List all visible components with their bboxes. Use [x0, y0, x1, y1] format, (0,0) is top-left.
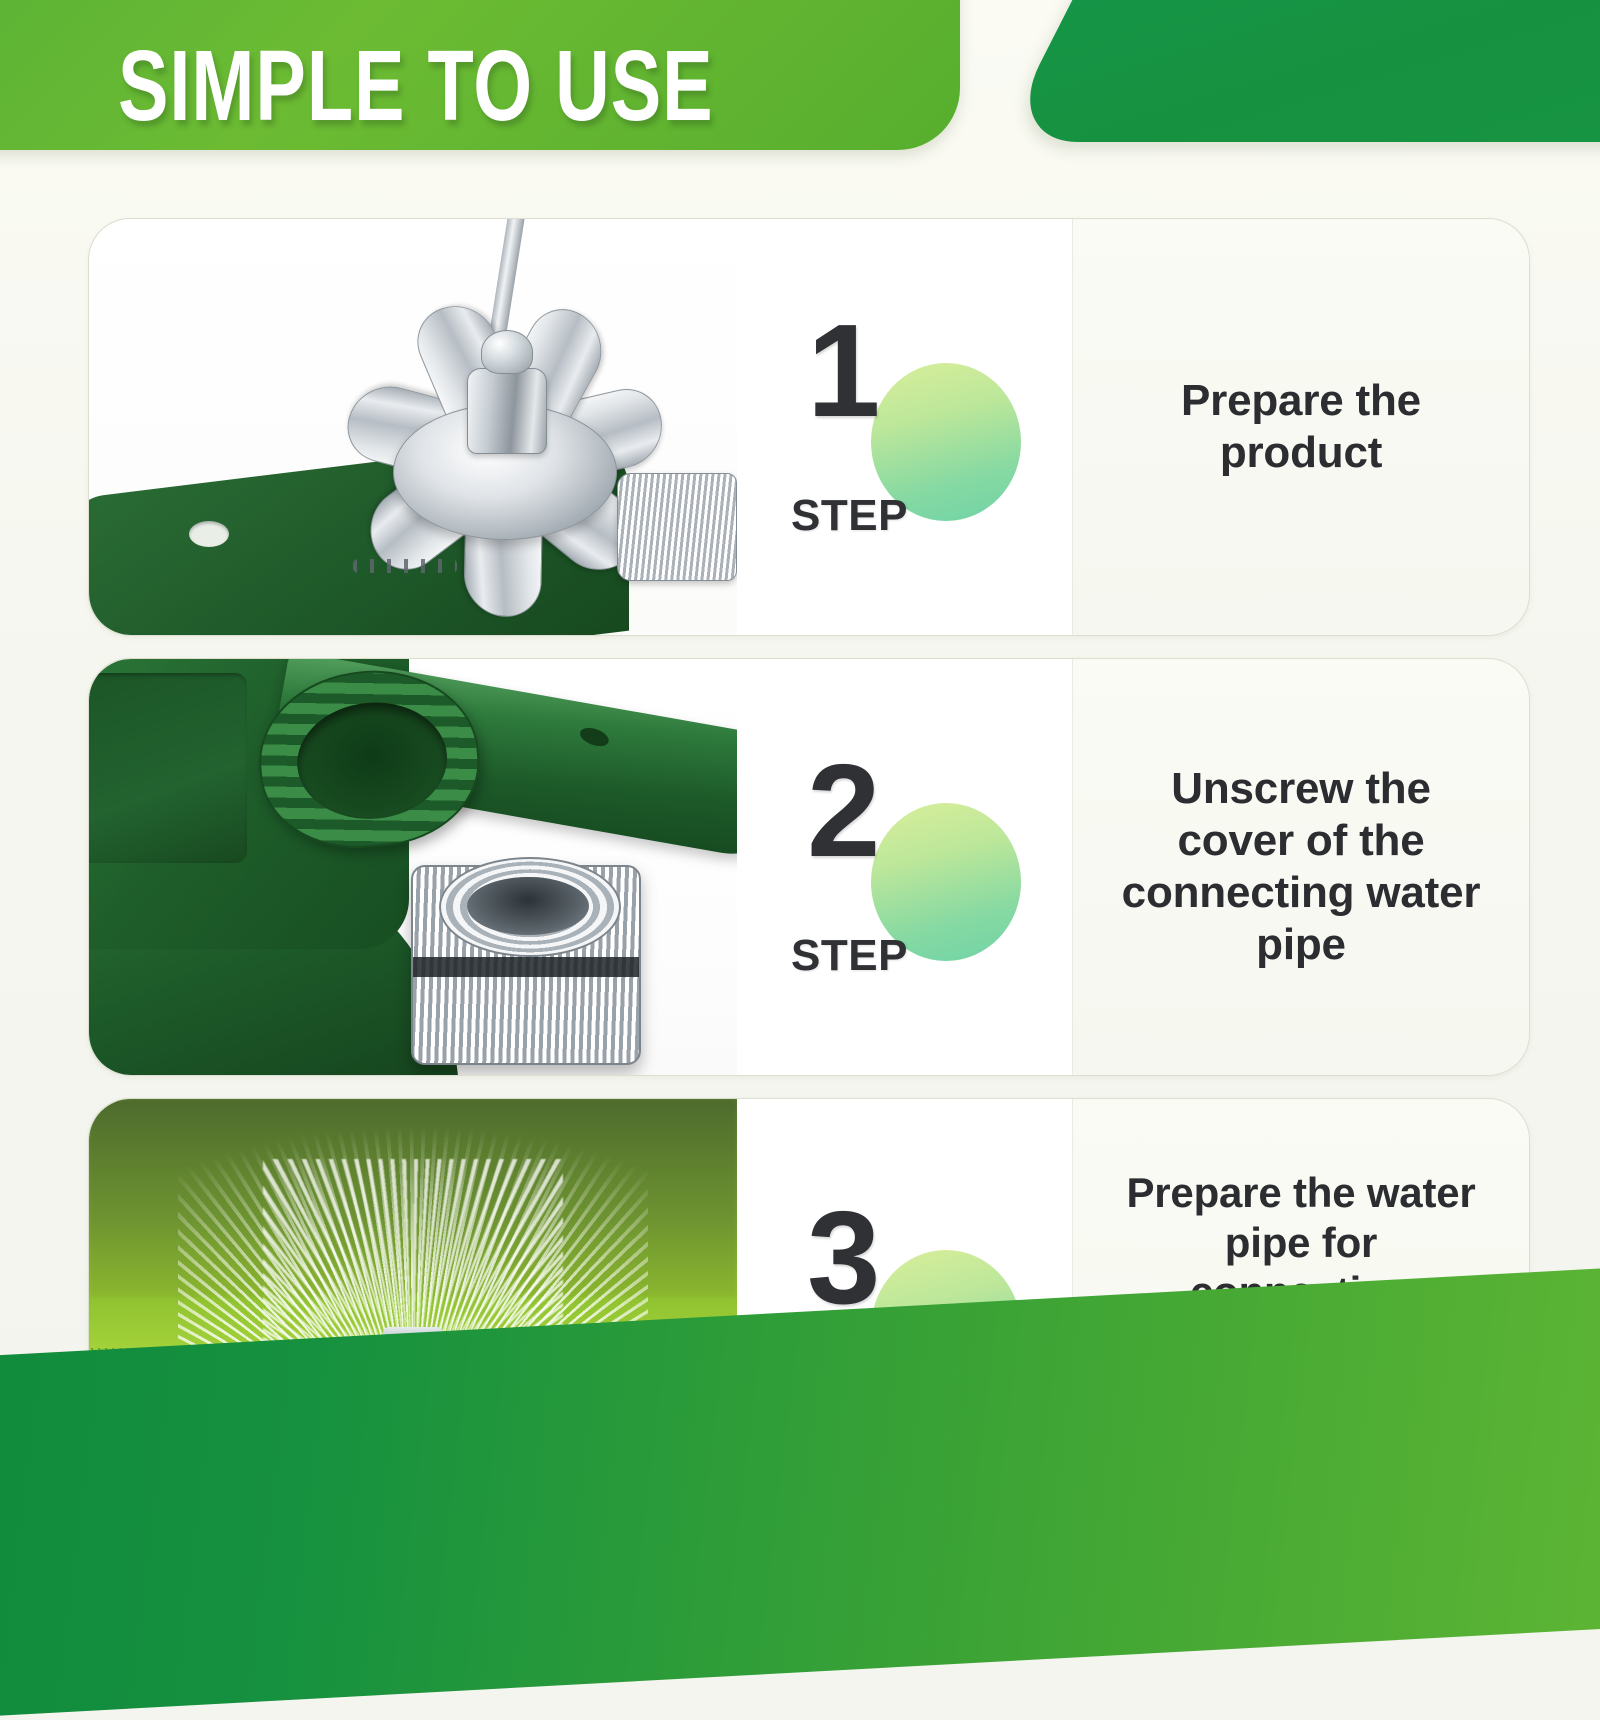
step-2-number-zone: 2 STEP	[737, 659, 1073, 1075]
base-mounting-hole	[189, 521, 229, 547]
vent-holes	[353, 559, 457, 573]
step-marker: 2 STEP	[799, 759, 1011, 975]
step-1-photo	[89, 219, 737, 635]
step-description: Unscrew the cover of the connecting wate…	[1113, 763, 1489, 971]
step-1-text-zone: Prepare the product	[1073, 219, 1529, 635]
center-nut	[467, 368, 547, 454]
body-inset-panel	[89, 673, 247, 863]
step-number: 1	[807, 305, 878, 437]
step-number: 2	[807, 745, 878, 877]
step-1-number-zone: 1 STEP	[737, 219, 1073, 635]
page-title: SIMPLE TO USE	[118, 28, 714, 144]
step-card-2: 2 STEP Unscrew the cover of the connecti…	[88, 658, 1530, 1076]
step-card-1: 1 STEP Prepare the product	[88, 218, 1530, 636]
step-description: Prepare the product	[1113, 375, 1489, 479]
step-label: STEP	[791, 491, 908, 541]
chrome-collar	[617, 473, 737, 581]
step-2-text-zone: Unscrew the cover of the connecting wate…	[1073, 659, 1529, 1075]
step-number: 3	[807, 1192, 878, 1324]
step-marker: 1 STEP	[799, 319, 1011, 535]
port-opening	[292, 696, 452, 825]
header-accent-shape	[1000, 0, 1600, 142]
arm-hole	[578, 724, 612, 749]
step-label: STEP	[791, 931, 908, 981]
step-2-photo	[89, 659, 737, 1075]
chrome-ring-nut	[411, 865, 641, 1065]
top-cap	[481, 330, 533, 374]
